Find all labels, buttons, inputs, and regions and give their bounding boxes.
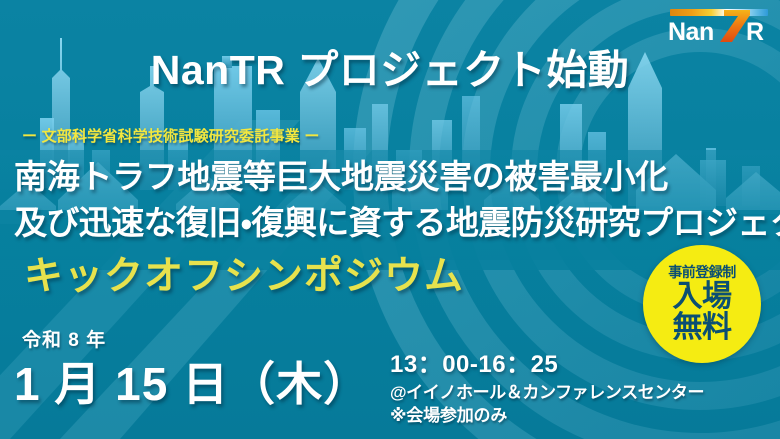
- event-venue: @イイノホール＆カンファレンスセンター: [390, 378, 704, 403]
- event-date: 1 月 15 日（木）: [14, 348, 370, 414]
- badge-admission-line2: 無料: [673, 313, 732, 343]
- project-subtitle-line2: 及び迅速な復旧・復興に資する地震防災研究プロジェクト: [14, 196, 780, 244]
- event-name: キックオフシンポジウム: [24, 245, 464, 301]
- registration-badge[interactable]: 事前登録制 入場 無料: [643, 245, 761, 363]
- event-time: 13：00-16：25: [390, 344, 558, 379]
- badge-registration-label: 事前登録制: [668, 265, 736, 279]
- page-title: NanTR プロジェクト始動: [0, 36, 780, 96]
- event-note: ※会場参加のみ: [390, 401, 507, 426]
- project-subtitle-line1: 南海トラフ地震等巨大地震災害の被害最小化: [14, 150, 668, 198]
- program-eyebrow: ー 文部科学省科学技術試験研究委託事業 ー: [22, 125, 320, 146]
- poster-root: Nan R NanTR プロジェクト始動 ー 文部科学省科学技術試験研究委託事業…: [0, 0, 780, 439]
- badge-admission-line1: 入場: [673, 282, 732, 312]
